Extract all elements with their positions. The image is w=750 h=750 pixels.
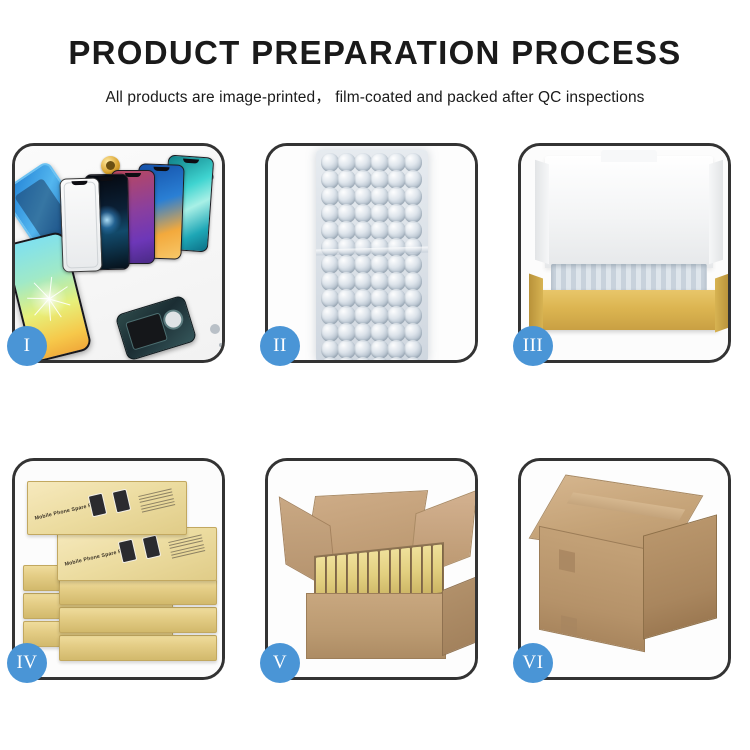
step-panel-5: V xyxy=(265,458,478,680)
retail-box-edge xyxy=(59,579,217,605)
step-image-sealed-carton xyxy=(521,461,728,677)
box-phone-graphic xyxy=(118,539,138,564)
step-badge-1: I xyxy=(7,326,47,366)
step-panel-6: VI xyxy=(518,458,731,680)
retail-box-printed: Mobile Phone Spare Parts xyxy=(27,481,187,535)
step-image-stacked-retail-boxes: Mobile Phone Spare Parts Mobile Phone Sp… xyxy=(15,461,222,677)
kraft-box-base-icon xyxy=(539,290,719,330)
tape-tab-icon xyxy=(561,615,577,636)
carton-front-face xyxy=(306,593,446,659)
step-panel-4: Mobile Phone Spare Parts Mobile Phone Sp… xyxy=(12,458,225,680)
step-badge-6: VI xyxy=(513,643,553,683)
box-phone-graphic xyxy=(112,489,132,514)
box-phone-graphic xyxy=(88,493,108,518)
carton-side-face xyxy=(643,514,717,639)
bubble xyxy=(370,357,389,360)
retail-box-edge xyxy=(59,607,217,633)
carton-front-face xyxy=(539,526,645,653)
step-image-inner-box-packing xyxy=(521,146,728,360)
step-badge-5: V xyxy=(260,643,300,683)
step-badge-2: II xyxy=(260,326,300,366)
bubble-grid xyxy=(322,154,422,358)
box-spec-lines xyxy=(138,488,175,514)
page-title: PRODUCT PREPARATION PROCESS xyxy=(0,34,750,72)
bubble xyxy=(387,357,406,360)
box-spec-lines xyxy=(168,534,205,560)
bubble-wrap-sheet xyxy=(316,150,428,360)
step-image-bubble-wrap xyxy=(268,146,475,360)
bubble xyxy=(354,357,373,360)
retail-box-edge xyxy=(59,635,217,661)
sealed-carton-icon xyxy=(537,485,717,653)
phone-chassis-icon xyxy=(115,295,198,360)
box-lid-icon xyxy=(545,156,713,268)
crack-icon xyxy=(23,274,74,325)
step-panel-2: II xyxy=(265,143,478,363)
retail-box-printed: Mobile Phone Spare Parts xyxy=(57,527,217,581)
screws-icon xyxy=(210,324,220,334)
screen-protector-icon xyxy=(59,177,102,272)
step-panel-1: I xyxy=(12,143,225,363)
tape-tab-icon xyxy=(559,549,575,572)
product-preparation-infographic: PRODUCT PREPARATION PROCESS All products… xyxy=(0,0,750,750)
bubble xyxy=(337,357,356,360)
step-badge-3: III xyxy=(513,326,553,366)
step-panel-3: III xyxy=(518,143,731,363)
page-subtitle: All products are image-printed， film-coa… xyxy=(0,85,750,107)
box-stack: Mobile Phone Spare Parts Mobile Phone Sp… xyxy=(23,475,222,665)
step-image-carton-filling xyxy=(268,461,475,677)
step-image-phone-displays-and-parts xyxy=(15,146,222,360)
box-phone-graphic xyxy=(142,535,162,560)
carton-side-face xyxy=(442,576,475,657)
open-carton-icon xyxy=(288,487,464,659)
steps-grid: I II III xyxy=(12,143,731,680)
header: PRODUCT PREPARATION PROCESS All products… xyxy=(0,34,750,107)
bubble xyxy=(404,357,423,360)
step-badge-4: IV xyxy=(7,643,47,683)
bubble xyxy=(321,357,340,360)
